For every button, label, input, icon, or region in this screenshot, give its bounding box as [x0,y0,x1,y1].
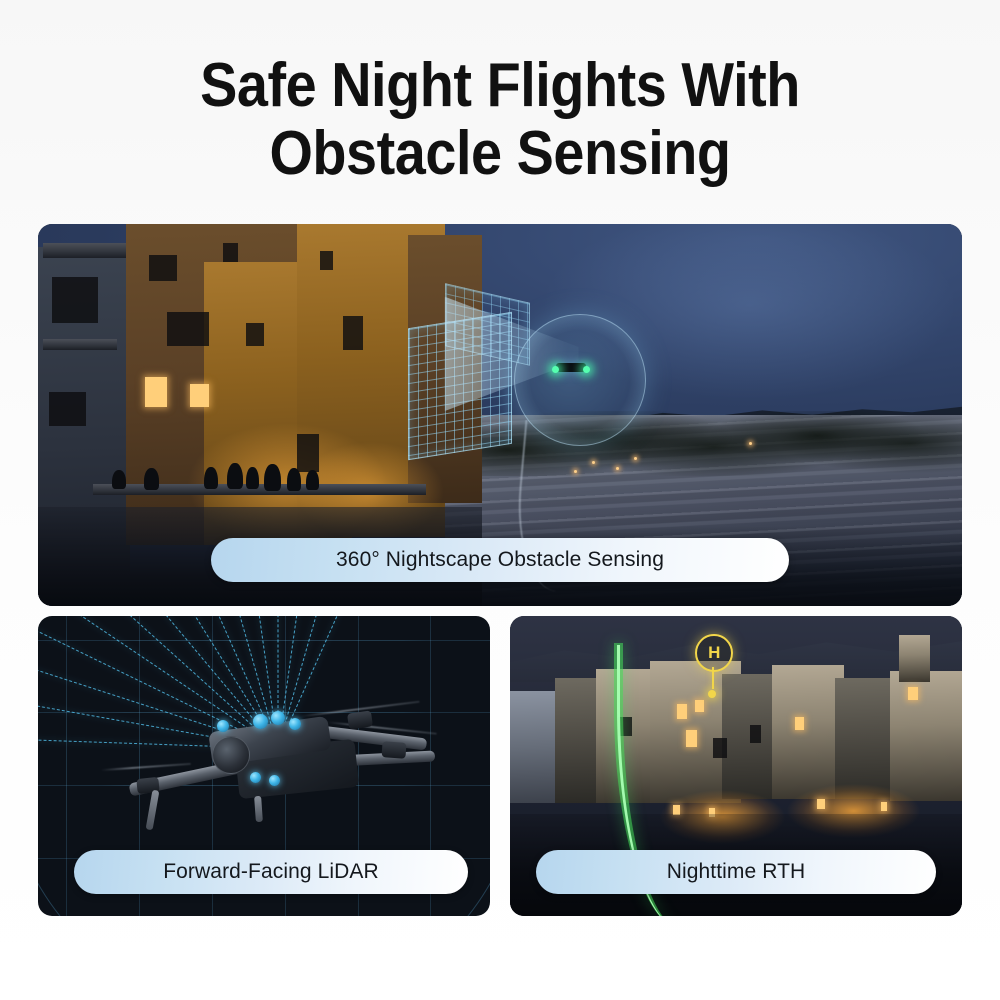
motor [381,741,406,759]
street-lamp [817,799,824,809]
page-title: Safe Night Flights With Obstacle Sensing [50,52,950,188]
home-marker-label: H [708,643,720,663]
lidar-sensor [253,714,268,729]
person-silhouette [246,467,259,490]
vision-sensor [289,718,301,730]
drone-navlight-left [552,366,559,373]
person-silhouette [227,463,243,490]
person-silhouette [144,468,159,489]
globe-latitude [38,712,490,713]
window [52,277,98,323]
window [246,323,264,346]
person-silhouette [204,467,218,490]
window [223,243,238,262]
globe-longitude [66,616,67,916]
window [713,738,727,757]
window [149,255,177,282]
window-lit [908,687,918,700]
panel-rth[interactable]: H Nighttime RTH [510,616,962,916]
window [167,312,209,346]
doorway [297,434,319,472]
city-light [634,457,637,460]
window-lit [145,377,167,408]
balcony-rail [43,243,126,258]
window [49,392,86,426]
downward-sensor [269,775,280,786]
balcony-rail [43,339,117,350]
person-silhouette [112,470,126,489]
window-lit [190,384,208,407]
street-lamp [881,802,887,811]
panel-lidar[interactable]: Forward-Facing LiDAR [38,616,490,916]
caption-text: 360° Nightscape Obstacle Sensing [336,548,664,572]
city-light [616,467,619,470]
caption-text: Nighttime RTH [667,860,806,884]
caption-pill-rth[interactable]: Nighttime RTH [536,850,936,894]
window [320,251,333,270]
globe-latitude [38,640,490,641]
drone [556,363,586,372]
caption-pill-nightscape[interactable]: 360° Nightscape Obstacle Sensing [211,538,789,582]
caption-text: Forward-Facing LiDAR [163,860,379,884]
person-silhouette [306,470,319,490]
lidar-sensor [271,711,285,725]
panel-nightscape[interactable]: 360° Nightscape Obstacle Sensing [38,224,962,606]
motor [347,710,373,729]
gimbal-camera [212,736,250,774]
home-marker-stem [712,667,714,689]
sensing-sphere [514,314,646,446]
person-silhouette [264,464,281,492]
vision-sensor [217,720,229,732]
home-marker-dot [708,690,716,698]
caption-pill-lidar[interactable]: Forward-Facing LiDAR [74,850,468,894]
person-silhouette [287,468,301,490]
window-lit [795,717,804,730]
window [343,316,363,350]
bell-tower [899,635,931,683]
product-feature-card: Safe Night Flights With Obstacle Sensing [0,0,1000,1000]
window [750,725,762,742]
